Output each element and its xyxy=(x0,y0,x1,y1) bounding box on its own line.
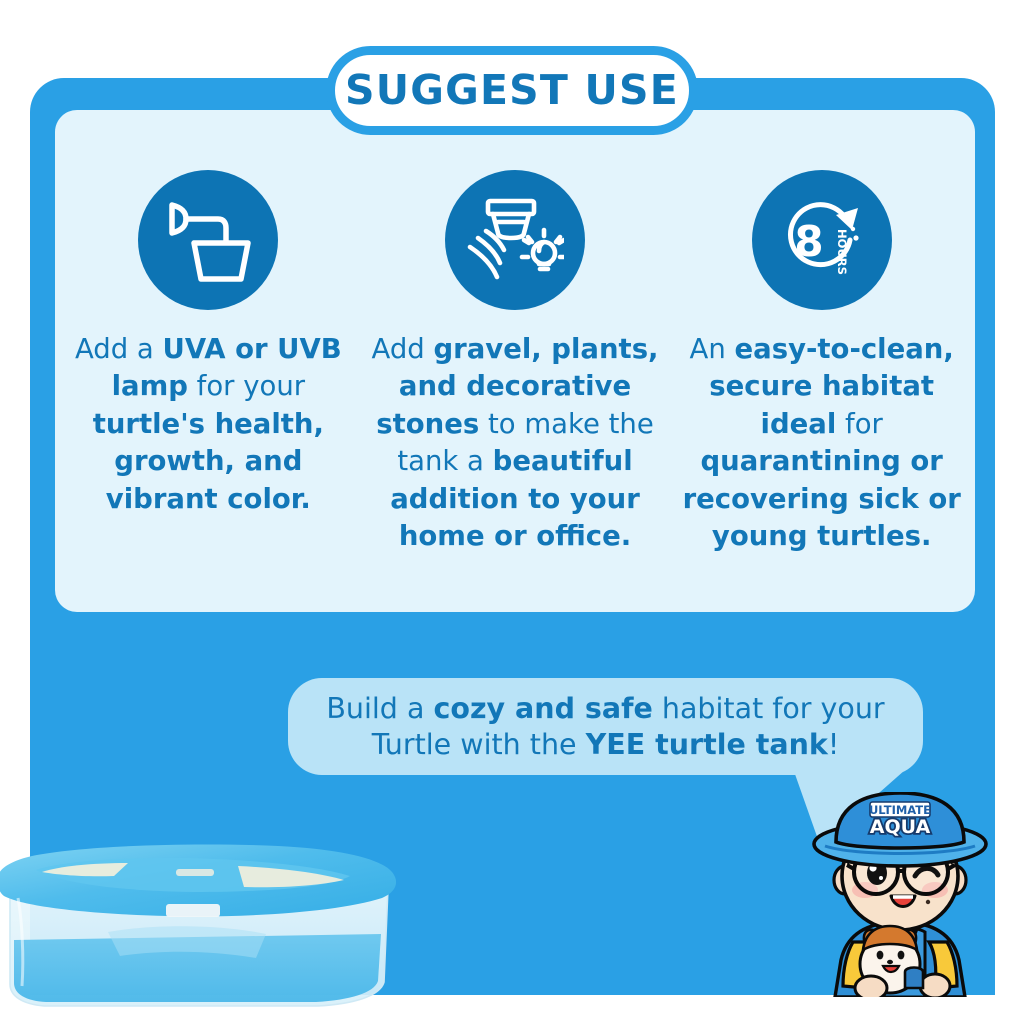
feature-column-3: 8 HOURS An easy-to-clean, secure habitat… xyxy=(668,170,975,600)
speech-bubble: Build a cozy and safe habitat for your T… xyxy=(288,678,923,775)
feature-column-1: Add a UVA or UVB lamp for your turtle's … xyxy=(55,170,362,600)
icon-number-8: 8 xyxy=(794,217,823,266)
hat-logo-line2: AQUA xyxy=(870,816,931,838)
feature-icon-circle-3: 8 HOURS xyxy=(752,170,892,310)
feature-icon-circle-1 xyxy=(138,170,278,310)
feature-icon-circle-2 xyxy=(445,170,585,310)
icon-unit-hours: HOURS xyxy=(835,229,849,275)
eight-hours-clock-icon: 8 HOURS xyxy=(776,194,868,286)
ultimate-aqua-boy-mascot: ULTIMATE AQUA xyxy=(795,792,1005,997)
feature-text-3: An easy-to-clean, secure habitat ideal f… xyxy=(674,331,969,555)
faucet-pouring-into-bucket-icon xyxy=(162,197,254,283)
suggest-use-title-pill: SUGGEST USE xyxy=(326,46,698,135)
feature-text-2: Add gravel, plants, and decorative stone… xyxy=(368,331,663,555)
speech-bubble-text: Build a cozy and safe habitat for your T… xyxy=(288,691,923,762)
feature-text-1: Add a UVA or UVB lamp for your turtle's … xyxy=(61,331,356,518)
feature-columns: Add a UVA or UVB lamp for your turtle's … xyxy=(55,170,975,600)
page-title: SUGGEST USE xyxy=(345,70,679,111)
hat-logo-line1: ULTIMATE xyxy=(869,803,931,817)
feature-column-2: Add gravel, plants, and decorative stone… xyxy=(362,170,669,600)
turtle-tank-product-photo xyxy=(0,836,424,1016)
ceiling-lamp-light-icon xyxy=(466,195,564,285)
